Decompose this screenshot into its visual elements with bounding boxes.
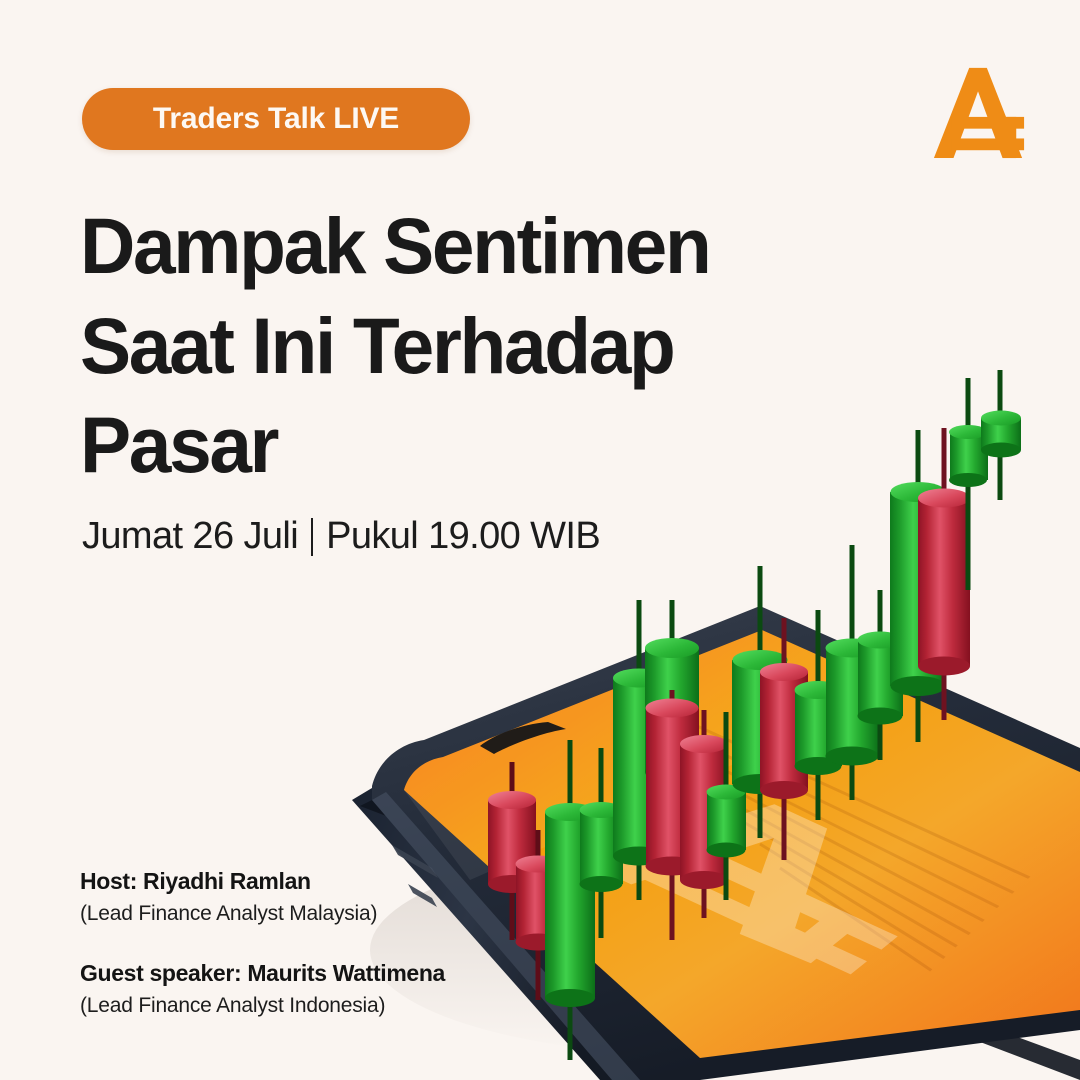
host-name: Host: Riyadhi Ramlan [80,866,600,897]
event-datetime: Jumat 26 Juli Pukul 19.00 WIB [82,515,600,558]
poster-canvas: Traders Talk LIVE Dampak Sentimen Saat I… [0,0,1080,1080]
page-title: Dampak Sentimen Saat Ini Terhadap Pasar [80,196,840,495]
credit-host: Host: Riyadhi Ramlan (Lead Finance Analy… [80,866,600,928]
event-date: Jumat 26 Juli [82,515,298,558]
headline-line-2: Saat Ini Terhadap [80,296,817,396]
brand-a-logo-icon [930,62,1028,162]
host-role: (Lead Finance Analyst Malaysia) [80,899,600,928]
headline-line-3: Pasar [80,395,817,495]
datetime-separator [311,518,313,556]
live-badge: Traders Talk LIVE [82,88,470,150]
headline-line-1: Dampak Sentimen [80,196,817,296]
credit-guest: Guest speaker: Maurits Wattimena (Lead F… [80,958,600,1020]
guest-role: (Lead Finance Analyst Indonesia) [80,991,600,1020]
event-time: Pukul 19.00 WIB [326,515,600,558]
guest-name: Guest speaker: Maurits Wattimena [80,958,600,989]
live-badge-label: Traders Talk LIVE [153,104,399,134]
credits-block: Host: Riyadhi Ramlan (Lead Finance Analy… [80,866,600,1050]
